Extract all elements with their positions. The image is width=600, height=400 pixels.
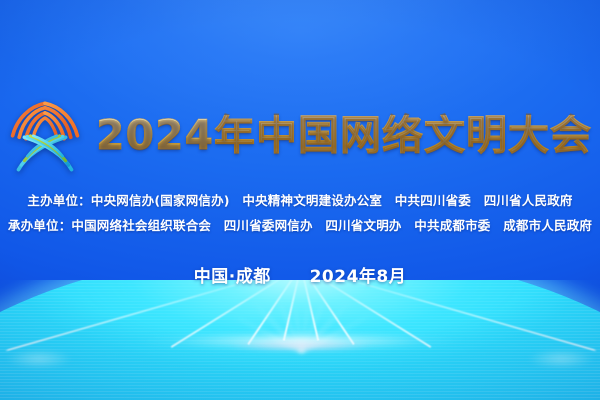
poster-header: 2024年中国网络文明大会 xyxy=(0,96,600,174)
date-text: 2024年8月 xyxy=(310,267,407,287)
page-title: 2024年中国网络文明大会 xyxy=(96,115,592,156)
place-date-block: 中国·成都 2024年8月 xyxy=(0,262,600,287)
conference-poster: 2024年中国网络文明大会 主办单位：中央网信办(国家网信办) 中央精神文明建设… xyxy=(0,0,600,400)
host-units-line: 主办单位：中央网信办(国家网信办) 中央精神文明建设办公室 中共四川省委 四川省… xyxy=(0,188,600,213)
organiser-block: 主办单位：中央网信办(国家网信办) 中央精神文明建设办公室 中共四川省委 四川省… xyxy=(0,188,600,238)
place-text: 中国·成都 xyxy=(194,267,271,287)
conference-emblem-icon xyxy=(8,96,82,174)
organizer-units-line: 承办单位：中国网络社会组织联合会 四川省委网信办 四川省文明办 中共成都市委 成… xyxy=(0,213,600,238)
